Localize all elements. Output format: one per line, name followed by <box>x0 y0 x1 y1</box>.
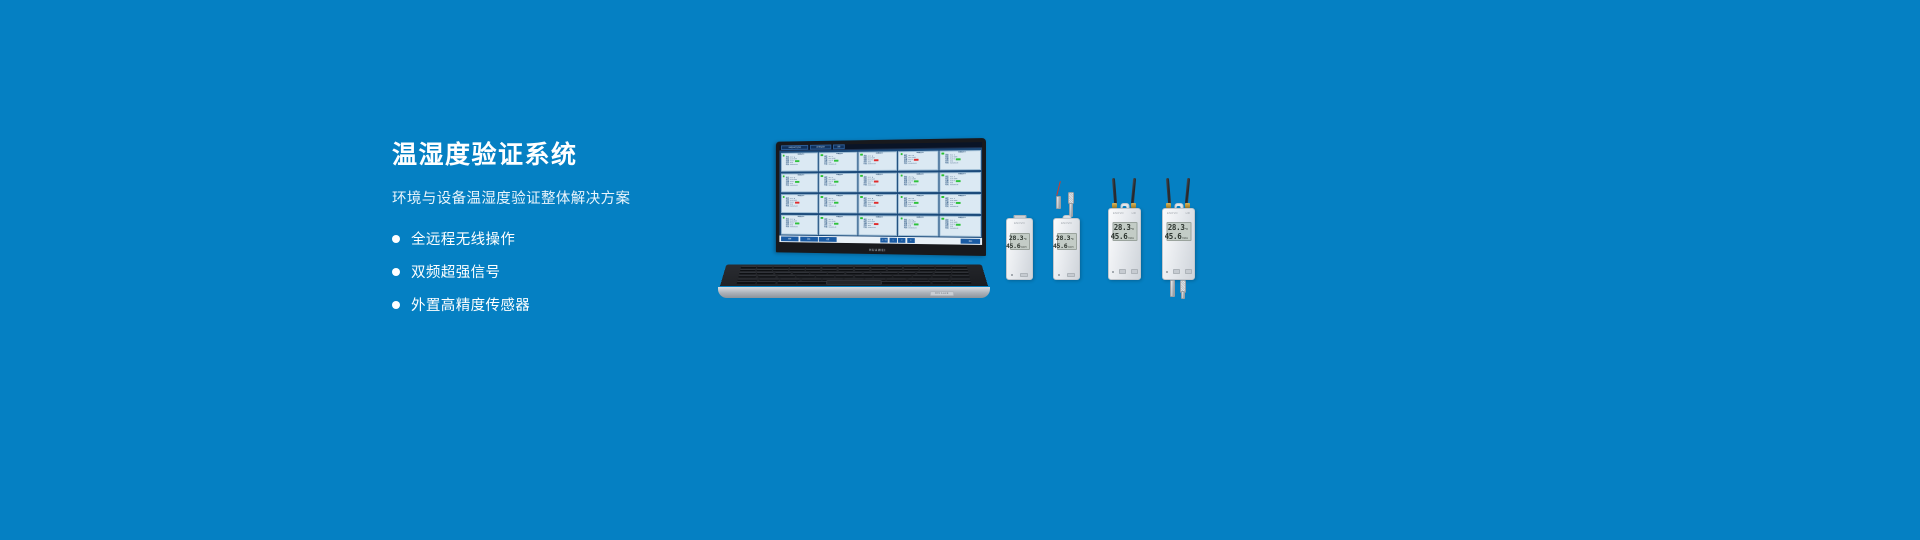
sensor-card[interactable]: 监测点01温度28.3 ℃湿度45.6 %RH电量95.0 %状态正常时间202… <box>781 152 818 172</box>
device-lineup: ENOVN 28.3 ℃ 45.6 %RH <box>1000 180 1230 320</box>
sensor-field-value: 2024-05-16 <box>790 185 798 187</box>
export-button[interactable]: 导出 <box>800 237 818 242</box>
keyboard-key[interactable] <box>887 266 902 268</box>
hero-text-block: 温湿度验证系统 环境与设备温湿度验证整体解决方案 全远程无线操作 双频超强信号 … <box>392 140 722 327</box>
sensor-field-key: 时间 <box>945 184 948 186</box>
sensor-field-value: 2024-05-16 <box>828 164 836 166</box>
sensor-field-key: 时间 <box>786 164 789 166</box>
sensor-field-key: 时间 <box>864 206 867 208</box>
keyboard-key[interactable] <box>929 278 949 280</box>
sensor-card[interactable]: 监测点01温度28.3 ℃湿度45.6 %RH电量95.0 %状态正常时间202… <box>940 150 981 171</box>
bullet-dot-icon <box>392 301 400 309</box>
status-dot-icon <box>900 217 902 220</box>
humidity-unit: %RH <box>1021 246 1027 249</box>
sensor-field-key: 时间 <box>904 206 907 208</box>
status-dot-icon <box>900 153 902 156</box>
keyboard-key[interactable] <box>835 275 853 277</box>
sensor-card-row: 时间2024-05-16 <box>945 228 978 230</box>
keyboard-key[interactable] <box>934 272 951 274</box>
sensor-field-value: 2024-05-16 <box>868 227 876 229</box>
sensor-field-value: 2024-05-16 <box>868 163 876 165</box>
feature-label: 外置高精度传感器 <box>411 294 530 315</box>
status-dot-icon <box>900 196 902 199</box>
keyboard-key[interactable] <box>789 269 804 271</box>
humidity-unit: %RH <box>1068 246 1074 249</box>
humidity-value: 45.6 <box>1111 232 1128 241</box>
bottom-probe-left <box>1170 280 1175 297</box>
status-dot-icon <box>821 175 823 177</box>
keyboard-key[interactable] <box>893 275 911 277</box>
sensor-field-key: 时间 <box>786 226 789 228</box>
keyboard-key[interactable] <box>775 272 792 274</box>
status-pill <box>795 160 799 162</box>
humidity-value: 45.6 <box>1165 232 1182 241</box>
keyboard-key[interactable] <box>777 275 795 277</box>
sensor-field-key: 时间 <box>824 185 827 187</box>
bullet-dot-icon <box>392 235 400 243</box>
device-wireless-logger-dual-antenna: ENOVN HR 28.3 ℃ 45.6 %RH <box>1108 180 1141 280</box>
temperature-reading: 28.3 ℃ <box>1169 223 1188 232</box>
device-button[interactable] <box>1173 269 1180 274</box>
sensor-field-key: 时间 <box>824 164 827 166</box>
temperature-value: 28.3 <box>1056 234 1070 242</box>
temperature-value: 28.3 <box>1114 223 1131 232</box>
sensor-field-value: 2024-05-16 <box>950 228 959 230</box>
page-title: 温湿度验证系统 <box>392 140 722 170</box>
status-dot-icon <box>821 196 823 198</box>
status-pill <box>834 160 838 162</box>
keyboard-key[interactable] <box>816 275 834 277</box>
status-pill <box>956 158 961 160</box>
temperature-reading: 28.3 ℃ <box>1060 234 1074 242</box>
temperature-unit: ℃ <box>1185 228 1188 231</box>
keyboard-key[interactable] <box>805 269 820 271</box>
sensor-card[interactable]: 监测点01温度28.3 ℃湿度45.6 %RH电量95.0 %状态正常时间202… <box>819 173 857 193</box>
device-body: ENOVN HR 28.3 ℃ 45.6 %RH <box>1162 208 1195 280</box>
keyboard-key[interactable] <box>917 272 934 274</box>
device-controls <box>1163 269 1194 274</box>
keyboard-key[interactable] <box>932 282 951 284</box>
sensor-card[interactable]: 监测点01温度28.3 ℃湿度45.6 %RH电量95.0 %状态正常时间202… <box>898 215 938 236</box>
sensor-card[interactable]: 监测点01温度28.3 ℃湿度45.6 %RH电量95.0 %状态正常时间202… <box>781 173 818 193</box>
keyboard-key[interactable] <box>913 275 931 277</box>
laptop-front-lip: FN Lock <box>718 287 990 298</box>
keyboard-key[interactable] <box>953 269 969 271</box>
keyboard-key[interactable] <box>738 275 757 277</box>
sensor-card-row: 时间2024-05-16 <box>864 227 896 229</box>
humidity-reading: 45.6 %RH <box>1060 242 1074 250</box>
status-pill <box>956 202 961 204</box>
status-led-icon <box>1011 274 1013 276</box>
sensor-field-key: 时间 <box>945 162 948 164</box>
lcd-display: 28.3 ℃ 45.6 %RH <box>1166 222 1191 241</box>
status-pill <box>874 202 879 204</box>
temperature-value: 28.3 <box>1168 223 1185 232</box>
hero-banner: 温湿度验证系统 环境与设备温湿度验证整体解决方案 全远程无线操作 双频超强信号 … <box>0 0 1920 540</box>
status-dot-icon <box>942 218 944 221</box>
status-pill <box>956 224 961 226</box>
keyboard-key[interactable] <box>950 278 971 280</box>
sensor-field-key: 时间 <box>945 228 948 230</box>
keyboard-key[interactable] <box>951 275 970 277</box>
keyboard-row <box>738 275 970 277</box>
page-subtitle: 环境与设备温湿度验证整体解决方案 <box>392 187 722 208</box>
antenna-icon <box>1166 178 1172 204</box>
device-button[interactable] <box>1067 273 1075 277</box>
sensor-card-row: 时间2024-05-16 <box>904 163 937 165</box>
page-3-button[interactable]: 3 <box>907 238 915 243</box>
list-item: 双频超强信号 <box>392 261 722 282</box>
probe-wire <box>1056 181 1061 196</box>
temperature-reading: 28.3 ℃ <box>1013 234 1027 242</box>
status-pill <box>874 223 879 225</box>
status-pill <box>795 223 799 225</box>
keyboard-key[interactable] <box>863 272 880 274</box>
feature-list: 全远程无线操作 双频超强信号 外置高精度传感器 <box>392 228 722 315</box>
keyboard-key[interactable] <box>952 272 969 274</box>
sensor-card-row: 时间2024-05-16 <box>824 206 855 208</box>
temperature-unit: ℃ <box>1024 238 1027 241</box>
laptop-lid: 温湿度验证管理系统 实时数据监控 报警 监测点01温度28.3 ℃湿度45.6 … <box>776 138 986 256</box>
keyboard-key[interactable] <box>874 275 892 277</box>
status-dot-icon <box>860 153 862 156</box>
antenna-icon <box>1112 178 1118 204</box>
device-controls <box>1054 273 1079 277</box>
sensor-field-key: 时间 <box>945 206 948 208</box>
sensor-field-value: 2024-05-16 <box>868 184 876 186</box>
device-button[interactable] <box>1119 269 1126 274</box>
trackpad[interactable] <box>826 280 882 285</box>
sensor-card[interactable]: 监测点01温度28.3 ℃湿度45.6 %RH电量95.0 %状态正常时间202… <box>858 194 897 214</box>
keyboard-key[interactable] <box>773 269 788 271</box>
status-dot-icon <box>783 217 785 219</box>
sensor-card[interactable]: 监测点01温度28.3 ℃湿度45.6 %RH电量95.0 %状态正常时间202… <box>940 194 981 215</box>
temperature-unit: ℃ <box>1131 228 1134 231</box>
keyboard-key[interactable] <box>887 269 902 271</box>
page-prev-button[interactable]: 上一页 <box>881 238 888 243</box>
toolbar-spacer <box>916 241 959 242</box>
keyboard-key[interactable] <box>855 275 873 277</box>
sensor-card[interactable]: 监测点01温度28.3 ℃湿度45.6 %RH电量95.0 %状态正常时间202… <box>940 172 981 193</box>
keyboard-row <box>740 269 968 271</box>
sensor-card-row: 时间2024-05-16 <box>945 206 978 208</box>
humidity-reading: 45.6 %RH <box>1169 232 1188 241</box>
keyboard-key[interactable] <box>822 269 837 271</box>
status-pill <box>834 223 838 225</box>
tab-system[interactable]: 温湿度验证管理系统 <box>781 145 808 150</box>
status-led-icon <box>1112 271 1114 273</box>
toolbar-spacer <box>838 240 879 241</box>
sensor-card[interactable]: 监测点01温度28.3 ℃湿度45.6 %RH电量95.0 %状态正常时间202… <box>781 214 818 234</box>
sensor-card[interactable]: 监测点01温度28.3 ℃湿度45.6 %RH电量95.0 %状态正常时间202… <box>898 150 938 171</box>
sensor-card-row: 时间2024-05-16 <box>824 185 855 187</box>
keyboard-key[interactable] <box>828 272 845 274</box>
sensor-field-value: 2024-05-16 <box>908 184 916 186</box>
sensor-field-value: 2024-05-16 <box>790 226 798 228</box>
status-pill <box>795 181 799 183</box>
keyboard-key[interactable] <box>757 266 772 268</box>
status-dot-icon <box>821 217 823 219</box>
keyboard-key[interactable] <box>912 282 931 284</box>
feature-label: 双频超强信号 <box>411 261 500 282</box>
keyboard-key[interactable] <box>801 278 821 280</box>
sensor-card[interactable]: 监测点01温度28.3 ℃湿度45.6 %RH电量95.0 %状态正常时间202… <box>898 172 938 193</box>
sensor-field-key: 时间 <box>786 206 789 208</box>
feature-label: 全远程无线操作 <box>411 228 515 249</box>
sensor-field-key: 时间 <box>864 227 867 229</box>
sensor-field-value: 2024-05-16 <box>950 184 959 186</box>
keyboard-key[interactable] <box>871 269 886 271</box>
sensor-field-key: 时间 <box>904 184 907 186</box>
keyboard-key[interactable] <box>757 282 776 284</box>
status-pill <box>914 180 919 182</box>
keyboard-key[interactable] <box>758 275 777 277</box>
antenna-icon <box>1131 178 1137 204</box>
keyboard-key[interactable] <box>855 269 870 271</box>
sensor-field-key: 时间 <box>904 227 907 229</box>
device-brand-label: ENOVN HR <box>1109 212 1140 215</box>
sensor-field-value: 2024-05-16 <box>908 227 916 229</box>
device-controls <box>1007 273 1032 277</box>
sensor-field-value: 2024-05-16 <box>790 164 798 166</box>
sensor-card-grid: 监测点01温度28.3 ℃湿度45.6 %RH电量95.0 %状态正常时间202… <box>779 148 982 238</box>
keyboard-key[interactable] <box>741 266 757 268</box>
status-dot-icon <box>783 154 785 156</box>
device-controls <box>1109 269 1140 274</box>
status-dot-icon <box>821 154 823 156</box>
keyboard-key[interactable] <box>952 266 968 268</box>
keyboard-key[interactable] <box>932 275 951 277</box>
temperature-reading: 28.3 ℃ <box>1115 223 1134 232</box>
laptop-base: FN Lock <box>718 252 990 298</box>
keyboard-key[interactable] <box>740 269 756 271</box>
bottom-probe-stem <box>1181 291 1185 299</box>
humidity-unit: %RH <box>1128 237 1134 240</box>
sensor-field-value: 2024-05-16 <box>908 206 916 208</box>
keyboard-key[interactable] <box>855 266 870 268</box>
list-item: 外置高精度传感器 <box>392 294 722 315</box>
sensor-field-key: 时间 <box>864 185 867 187</box>
device-button[interactable] <box>1185 269 1192 274</box>
sensor-card-row: 时间2024-05-16 <box>945 162 978 164</box>
sensor-card-row: 时间2024-05-16 <box>904 184 937 186</box>
device-brand-label: ENOVN <box>1054 222 1079 225</box>
sensor-card-row: 时间2024-05-16 <box>864 163 896 165</box>
status-pill <box>914 202 919 204</box>
sensor-card[interactable]: 监测点01温度28.3 ℃湿度45.6 %RH电量95.0 %状态正常时间202… <box>858 172 897 192</box>
status-dot-icon <box>860 196 862 198</box>
keyboard-key[interactable] <box>796 275 814 277</box>
status-dot-icon <box>783 175 785 177</box>
keyboard-key[interactable] <box>838 266 853 268</box>
sensor-field-value: 2024-05-16 <box>790 206 798 208</box>
lcd-display: 28.3 ℃ 45.6 %RH <box>1010 233 1030 250</box>
fn-lock-badge: FN Lock <box>930 291 954 296</box>
keyboard-key[interactable] <box>789 266 804 268</box>
dashboard-toolbar: 刷新 导出 设置 上一页 1 2 3 退出 <box>779 235 982 244</box>
sensor-card[interactable]: 监测点01温度28.3 ℃湿度45.6 %RH电量95.0 %状态正常时间202… <box>819 151 857 171</box>
sensor-field-value: 2024-05-16 <box>828 185 836 187</box>
humidity-reading: 45.6 %RH <box>1013 242 1027 250</box>
keyboard-key[interactable] <box>822 266 837 268</box>
status-dot-icon <box>860 175 862 178</box>
bullet-dot-icon <box>392 268 400 276</box>
sensor-field-value: 2024-05-16 <box>950 206 959 208</box>
keyboard-key[interactable] <box>904 269 919 271</box>
laptop-keyboard-deck <box>720 264 988 286</box>
sensor-card[interactable]: 监测点01温度28.3 ℃湿度45.6 %RH电量95.0 %状态正常时间202… <box>858 215 897 236</box>
device-button[interactable] <box>1131 269 1138 274</box>
sensor-card[interactable]: 监测点01温度28.3 ℃湿度45.6 %RH电量95.0 %状态正常时间202… <box>940 215 981 236</box>
sensor-card[interactable]: 监测点01温度28.3 ℃湿度45.6 %RH电量95.0 %状态正常时间202… <box>819 194 857 214</box>
sensor-card[interactable]: 监测点01温度28.3 ℃湿度45.6 %RH电量95.0 %状态正常时间202… <box>781 194 818 214</box>
keyboard-key[interactable] <box>920 269 935 271</box>
sensor-card-row: 时间2024-05-16 <box>864 206 896 208</box>
keyboard-key[interactable] <box>756 269 772 271</box>
status-dot-icon <box>942 152 944 155</box>
sensor-card-row: 时间2024-05-16 <box>904 227 937 229</box>
status-pill <box>914 159 919 161</box>
settings-button[interactable]: 设置 <box>819 237 837 242</box>
status-pill <box>795 202 799 204</box>
keyboard-key[interactable] <box>737 282 756 284</box>
sensor-field-value: 2024-05-16 <box>908 163 916 165</box>
humidity-reading: 45.6 %RH <box>1115 232 1134 241</box>
keyboard-key[interactable] <box>780 278 800 280</box>
humidity-value: 45.6 <box>1006 242 1020 250</box>
sensor-field-key: 时间 <box>904 163 907 165</box>
sensor-field-value: 2024-05-16 <box>868 206 876 208</box>
keyboard-key[interactable] <box>846 272 863 274</box>
keyboard-key[interactable] <box>919 266 934 268</box>
sensor-field-key: 时间 <box>824 227 827 229</box>
sensor-card-row: 时间2024-05-16 <box>786 206 816 208</box>
sensor-field-key: 时间 <box>864 163 867 165</box>
sensor-card[interactable]: 监测点01温度28.3 ℃湿度45.6 %RH电量95.0 %状态正常时间202… <box>898 194 938 215</box>
keyboard-key[interactable] <box>881 272 898 274</box>
temperature-value: 28.3 <box>1009 234 1023 242</box>
sensor-field-key: 时间 <box>786 185 789 187</box>
temperature-unit: ℃ <box>1071 238 1074 241</box>
keyboard-key[interactable] <box>773 266 788 268</box>
device-body: ENOVN 28.3 ℃ 45.6 %RH <box>1006 218 1033 280</box>
refresh-button[interactable]: 刷新 <box>781 236 798 241</box>
keyboard-key[interactable] <box>899 272 916 274</box>
keyboard-key[interactable] <box>757 272 774 274</box>
page-2-button[interactable]: 2 <box>898 238 905 243</box>
status-pill <box>874 159 879 161</box>
keyboard-key[interactable] <box>739 272 756 274</box>
sensor-card-row: 时间2024-05-16 <box>786 185 816 187</box>
antenna-icon <box>1185 178 1191 204</box>
lcd-display: 28.3 ℃ 45.6 %RH <box>1112 222 1137 241</box>
sensor-field-value: 2024-05-16 <box>828 227 836 229</box>
keyboard-key[interactable] <box>908 278 928 280</box>
device-wireless-logger-dual-antenna-probe: ENOVN HR 28.3 ℃ 45.6 %RH <box>1162 180 1195 280</box>
sensor-card-row: 时间2024-05-16 <box>824 227 855 229</box>
status-pill <box>956 180 961 182</box>
wired-probe-tip <box>1056 196 1061 209</box>
keyboard-key[interactable] <box>838 269 853 271</box>
device-button[interactable] <box>1020 273 1028 277</box>
sensor-field-key: 时间 <box>824 206 827 208</box>
keyboard-key[interactable] <box>737 278 758 280</box>
sensor-card-row: 时间2024-05-16 <box>904 206 937 208</box>
status-led-icon <box>1166 271 1168 273</box>
sensor-card[interactable]: 监测点01温度28.3 ℃湿度45.6 %RH电量95.0 %状态正常时间202… <box>819 215 857 235</box>
sensor-card-row: 时间2024-05-16 <box>786 226 816 228</box>
tab-realtime[interactable]: 实时数据监控 <box>810 145 831 150</box>
keyboard-key[interactable] <box>936 269 952 271</box>
sensor-card-row: 时间2024-05-16 <box>786 164 816 166</box>
keyboard-key[interactable] <box>759 278 779 280</box>
keyboard-key[interactable] <box>871 266 886 268</box>
keyboard-row <box>741 266 968 268</box>
list-item: 全远程无线操作 <box>392 228 722 249</box>
keyboard-key[interactable] <box>886 278 906 280</box>
sensor-card-row: 时间2024-05-16 <box>945 184 978 186</box>
laptop-product-image: 温湿度验证管理系统 实时数据监控 报警 监测点01温度28.3 ℃湿度45.6 … <box>718 138 990 298</box>
status-pill <box>914 224 919 226</box>
status-led-icon <box>1058 274 1060 276</box>
status-dot-icon <box>860 217 862 220</box>
keyboard-key[interactable] <box>792 272 809 274</box>
status-dot-icon <box>900 174 902 177</box>
device-body: ENOVN HR 28.3 ℃ 45.6 %RH <box>1108 208 1141 280</box>
status-dot-icon <box>783 196 785 198</box>
keyboard-key[interactable] <box>952 282 971 284</box>
keyboard-key[interactable] <box>810 272 827 274</box>
keyboard-key[interactable] <box>936 266 951 268</box>
humidity-value: 45.6 <box>1053 242 1067 250</box>
device-brand-label: ENOVN <box>1007 222 1032 225</box>
lcd-display: 28.3 ℃ 45.6 %RH <box>1057 233 1077 250</box>
laptop-screen: 温湿度验证管理系统 实时数据监控 报警 监测点01温度28.3 ℃湿度45.6 … <box>779 142 982 245</box>
exit-button[interactable]: 退出 <box>961 239 980 244</box>
page-1-button[interactable]: 1 <box>889 238 896 243</box>
device-data-logger-basic: ENOVN 28.3 ℃ 45.6 %RH <box>1006 218 1033 280</box>
status-dot-icon <box>942 196 944 199</box>
device-data-logger-probe: ENOVN 28.3 ℃ 45.6 %RH <box>1053 194 1080 280</box>
sensor-field-value: 2024-05-16 <box>950 162 959 164</box>
sensor-card-row: 时间2024-05-16 <box>824 163 855 165</box>
status-dot-icon <box>942 174 944 177</box>
humidity-unit: %RH <box>1182 237 1188 240</box>
keyboard-key[interactable] <box>806 266 821 268</box>
keyboard-key[interactable] <box>777 282 796 284</box>
device-brand-label: ENOVN HR <box>1163 212 1194 215</box>
status-pill <box>834 181 838 183</box>
tab-alarm[interactable]: 报警 <box>833 145 845 149</box>
sensor-field-value: 2024-05-16 <box>828 206 836 208</box>
keyboard-key[interactable] <box>903 266 918 268</box>
sensor-card[interactable]: 监测点01温度28.3 ℃湿度45.6 %RH电量95.0 %状态正常时间202… <box>858 151 897 172</box>
status-pill <box>834 202 838 204</box>
sensor-card-row: 时间2024-05-16 <box>864 184 896 186</box>
keyboard-row <box>739 272 969 274</box>
device-body: ENOVN 28.3 ℃ 45.6 %RH <box>1053 218 1080 280</box>
